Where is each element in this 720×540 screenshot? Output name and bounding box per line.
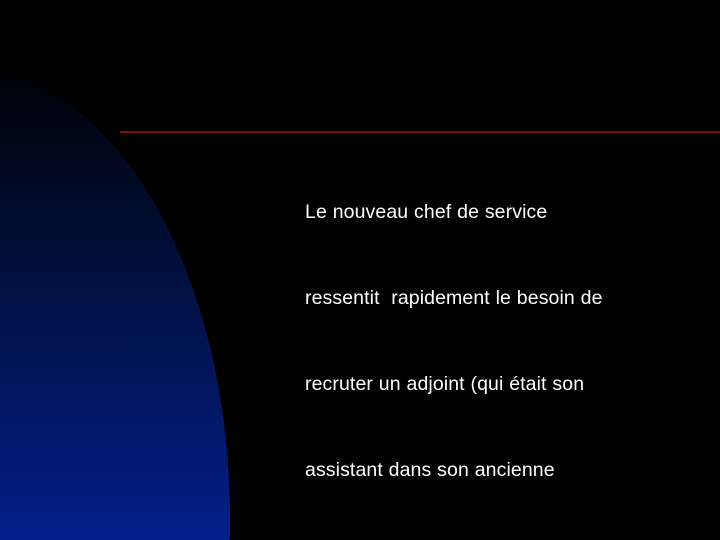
body-text-line: assistant dans son ancienne <box>305 456 697 485</box>
red-divider-line <box>120 131 720 133</box>
blue-ellipse-decoration <box>0 68 230 540</box>
slide-body-text: Le nouveau chef de service ressentit rap… <box>305 141 697 540</box>
body-text-line: ressentit rapidement le besoin de <box>305 284 697 313</box>
body-text-line: Le nouveau chef de service <box>305 198 697 227</box>
presentation-slide: Le nouveau chef de service ressentit rap… <box>0 0 720 540</box>
body-text-line: recruter un adjoint (qui était son <box>305 370 697 399</box>
